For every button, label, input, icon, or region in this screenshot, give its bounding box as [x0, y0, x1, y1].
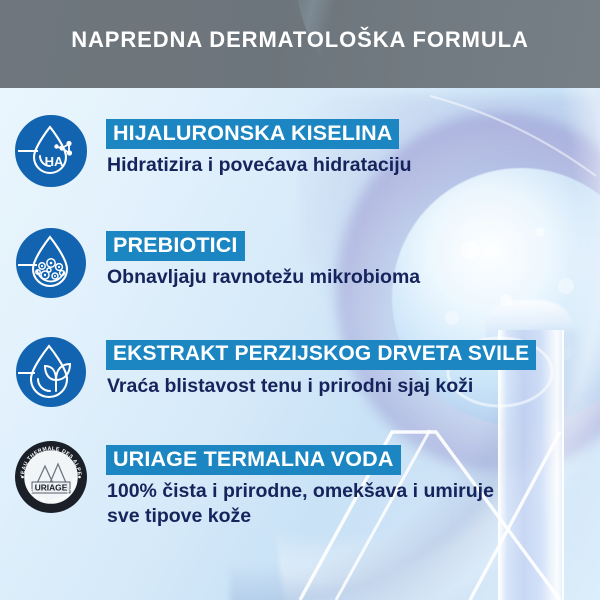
droplet-microbiome-icon	[14, 226, 88, 300]
feature-description: Hidratizira i povećava hidrataciju	[106, 153, 412, 178]
uriage-seal-logo: URIAGE L'EAU THERMALE DES ALPES FRENCH A…	[14, 440, 88, 514]
page-title: NAPREDNA DERMATOLOŠKA FORMULA	[0, 27, 600, 53]
feature-description: Obnavljaju ravnotežu mikrobioma	[106, 265, 420, 290]
feature-text-block: URIAGE TERMALNA VODA 100% čista i prirod…	[106, 440, 507, 528]
feature-description: Vraća blistavost tenu i prirodni sjaj ko…	[106, 374, 527, 399]
feature-item-prebiotics: PREBIOTICI Obnavljaju ravnotežu mikrobio…	[14, 226, 420, 300]
feature-item-silk-tree-extract: EKSTRAKT PERZIJSKOG DRVETA SVILE Vraća b…	[14, 335, 536, 409]
droplet-molecule-ha-icon: HA	[14, 114, 88, 188]
product-infographic: NAPREDNA DERMATOLOŠKA FORMULA	[0, 0, 600, 600]
feature-text-block: EKSTRAKT PERZIJSKOG DRVETA SVILE Vraća b…	[106, 335, 536, 398]
header-banner: NAPREDNA DERMATOLOŠKA FORMULA	[0, 0, 600, 88]
feature-item-uriage-thermal-water: URIAGE L'EAU THERMALE DES ALPES FRENCH A…	[14, 440, 507, 528]
feature-description: 100% čista i prirodne, omekšava i umiruj…	[106, 479, 507, 528]
feature-title: PREBIOTICI	[106, 231, 245, 261]
feature-item-hyaluronic-acid: HA HIJALURONSKA KISELINA Hidratizira i p…	[14, 114, 412, 188]
feature-text-block: PREBIOTICI Obnavljaju ravnotežu mikrobio…	[106, 226, 420, 290]
feature-title: HIJALURONSKA KISELINA	[106, 119, 399, 149]
svg-text:HA: HA	[45, 154, 64, 169]
uriage-wordmark: URIAGE	[35, 483, 68, 493]
feature-title: EKSTRAKT PERZIJSKOG DRVETA SVILE	[106, 340, 536, 370]
feature-title: URIAGE TERMALNA VODA	[106, 445, 401, 475]
droplet-leaf-icon	[14, 335, 88, 409]
feature-text-block: HIJALURONSKA KISELINA Hidratizira i pove…	[106, 114, 412, 178]
